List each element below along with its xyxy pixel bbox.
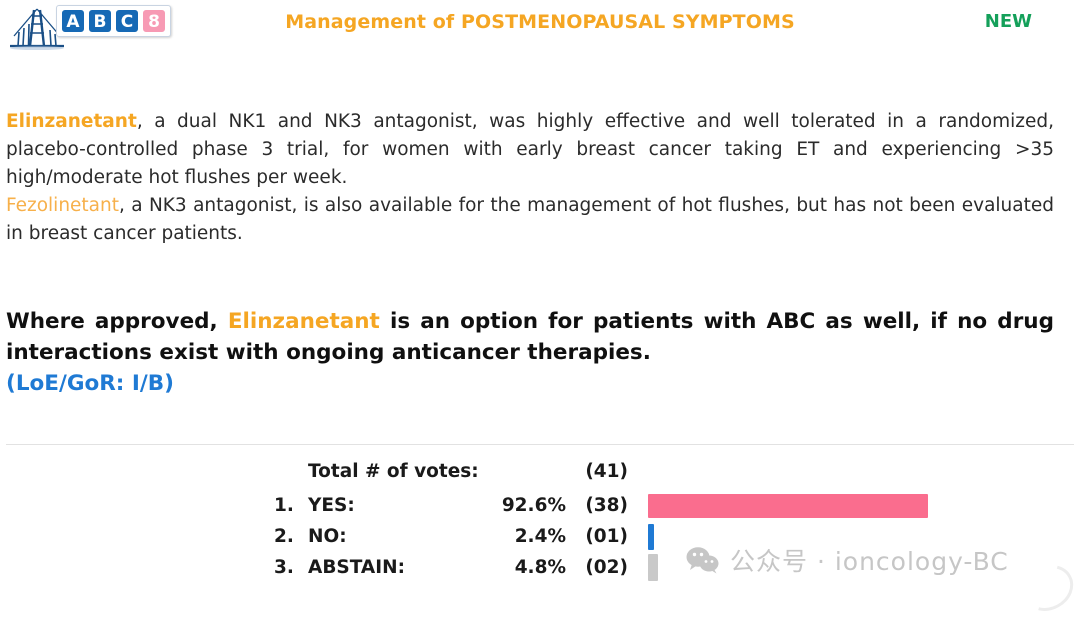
page-title: Management of POSTMENOPAUSAL SYMPTOMS (0, 11, 1080, 33)
statement-drug-name: Elinzanetant (228, 309, 380, 334)
vote-row-no-count: (01) (566, 526, 628, 547)
vote-row-no-bar-cell (628, 521, 1074, 552)
paragraph-fezolinetant: Fezolinetant, a NK3 antagonist, is also … (6, 192, 1054, 248)
vote-row-yes: 1. YES: 92.6% (38) (274, 490, 1074, 521)
slide-header: A B C 8 Management of POSTMENOPAUSAL SYM… (0, 0, 1080, 62)
vote-row-no: 2. NO: 2.4% (01) (274, 521, 1074, 552)
vote-row-abstain-percent: 4.8% (480, 557, 566, 578)
vote-row-no-percent: 2.4% (480, 526, 566, 547)
paragraph-2-text: , a NK3 antagonist, is also available fo… (6, 195, 1054, 244)
paragraph-elinzanetant: Elinzanetant, a dual NK1 and NK3 antagon… (6, 108, 1054, 192)
recommendation-statement: Where approved, Elinzanetant is an optio… (6, 306, 1054, 368)
new-badge: NEW (985, 11, 1032, 32)
statement-line-2: interactions exist with ongoing anticanc… (6, 337, 1054, 368)
vote-total-label: Total # of votes: (308, 461, 480, 482)
statement-suffix: is an option for patients with ABC as we… (380, 309, 1054, 334)
vote-results: Total # of votes: (41) 1. YES: 92.6% (38… (274, 452, 1074, 583)
vote-row-abstain-number: 3. (274, 557, 308, 578)
vote-row-yes-bar-cell (628, 490, 1074, 521)
vote-row-no-number: 2. (274, 526, 308, 547)
section-divider (6, 444, 1074, 445)
body-paragraphs: Elinzanetant, a dual NK1 and NK3 antagon… (6, 108, 1054, 248)
vote-total-count: (41) (566, 461, 628, 482)
vote-bar-yes (648, 494, 928, 518)
vote-row-yes-number: 1. (274, 495, 308, 516)
statement-line-1: Where approved, Elinzanetant is an optio… (6, 306, 1054, 337)
vote-row-abstain-label: ABSTAIN: (308, 557, 480, 578)
vote-row-yes-percent: 92.6% (480, 495, 566, 516)
vote-row-no-label: NO: (308, 526, 480, 547)
statement-prefix: Where approved, (6, 309, 228, 334)
drug-name-elinzanetant: Elinzanetant (6, 111, 137, 132)
vote-row-abstain: 3. ABSTAIN: 4.8% (02) (274, 552, 1074, 583)
vote-total-row: Total # of votes: (41) (274, 452, 1074, 490)
vote-row-abstain-bar-cell (628, 552, 1074, 583)
vote-row-yes-label: YES: (308, 495, 480, 516)
vote-row-abstain-count: (02) (566, 557, 628, 578)
drug-name-fezolinetant: Fezolinetant (6, 195, 119, 216)
paragraph-1-text: , a dual NK1 and NK3 antagonist, was hig… (6, 111, 1054, 188)
vote-row-yes-count: (38) (566, 495, 628, 516)
vote-bar-no (648, 524, 654, 550)
vote-bar-abstain (648, 554, 658, 581)
loe-gor-label: (LoE/GoR: I/B) (6, 371, 174, 396)
vote-total-bar-cell (628, 456, 1074, 487)
